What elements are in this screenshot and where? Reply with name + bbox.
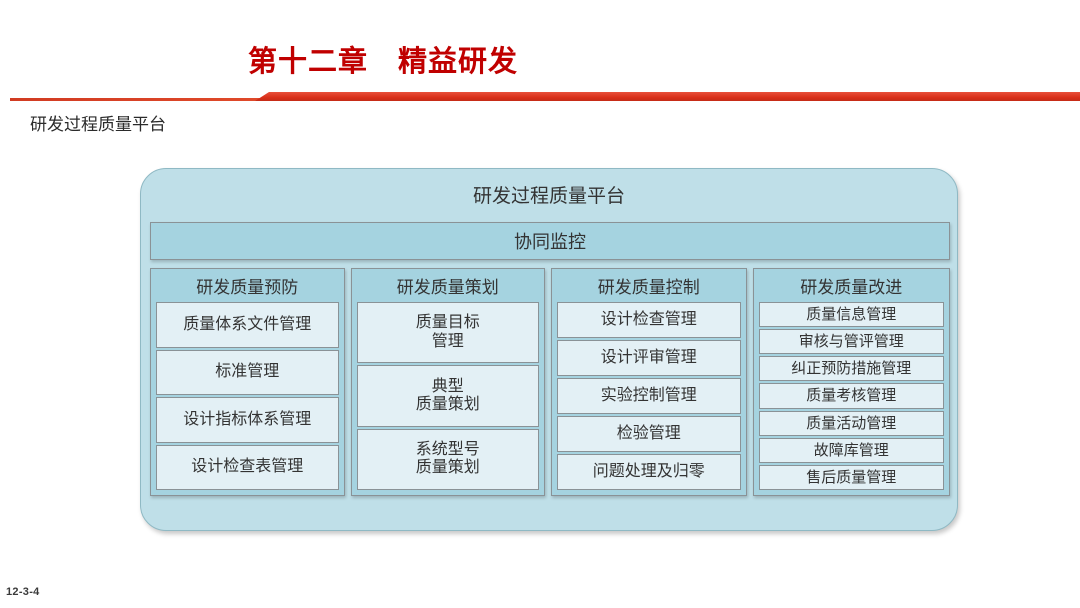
header-divider bbox=[0, 88, 1080, 110]
list-item[interactable]: 系统型号 质量策划 bbox=[357, 429, 540, 490]
list-item[interactable]: 标准管理 bbox=[156, 350, 339, 396]
list-item[interactable]: 设计检查表管理 bbox=[156, 445, 339, 491]
list-item[interactable]: 设计检查管理 bbox=[557, 302, 741, 338]
column-item-list: 设计检查管理 设计评审管理 实验控制管理 检验管理 问题处理及归零 bbox=[557, 302, 741, 490]
column-quality-improvement: 研发质量改进 质量信息管理 审核与管评管理 纠正预防措施管理 质量考核管理 质量… bbox=[753, 268, 950, 496]
list-item[interactable]: 问题处理及归零 bbox=[557, 454, 741, 490]
column-item-list: 质量目标 管理 典型 质量策划 系统型号 质量策划 bbox=[357, 302, 540, 490]
divider-thick-segment bbox=[255, 92, 1080, 101]
list-item[interactable]: 质量信息管理 bbox=[759, 302, 944, 327]
slide-page-number: 12-3-4 bbox=[6, 586, 40, 598]
capability-columns: 研发质量预防 质量体系文件管理 标准管理 设计指标体系管理 设计检查表管理 研发… bbox=[150, 268, 950, 496]
list-item[interactable]: 审核与管评管理 bbox=[759, 329, 944, 354]
column-item-list: 质量信息管理 审核与管评管理 纠正预防措施管理 质量考核管理 质量活动管理 故障… bbox=[759, 302, 944, 490]
list-item[interactable]: 实验控制管理 bbox=[557, 378, 741, 414]
column-header: 研发质量改进 bbox=[754, 269, 949, 302]
column-header: 研发质量预防 bbox=[151, 269, 344, 302]
column-header: 研发质量控制 bbox=[552, 269, 746, 302]
list-item[interactable]: 纠正预防措施管理 bbox=[759, 356, 944, 381]
list-item[interactable]: 设计评审管理 bbox=[557, 340, 741, 376]
list-item[interactable]: 故障库管理 bbox=[759, 438, 944, 463]
coordination-band-label: 协同监控 bbox=[514, 228, 586, 254]
list-item[interactable]: 质量活动管理 bbox=[759, 411, 944, 436]
list-item[interactable]: 质量考核管理 bbox=[759, 383, 944, 408]
list-item[interactable]: 设计指标体系管理 bbox=[156, 397, 339, 443]
platform-title: 研发过程质量平台 bbox=[141, 181, 957, 208]
column-quality-planning: 研发质量策划 质量目标 管理 典型 质量策划 系统型号 质量策划 bbox=[351, 268, 546, 496]
section-subtitle: 研发过程质量平台 bbox=[30, 110, 166, 135]
column-header: 研发质量策划 bbox=[352, 269, 545, 302]
list-item[interactable]: 质量目标 管理 bbox=[357, 302, 540, 363]
divider-thin-segment bbox=[10, 98, 268, 101]
column-quality-prevention: 研发质量预防 质量体系文件管理 标准管理 设计指标体系管理 设计检查表管理 bbox=[150, 268, 345, 496]
platform-diagram: 研发过程质量平台 协同监控 研发质量预防 质量体系文件管理 标准管理 设计指标体… bbox=[140, 168, 958, 531]
list-item[interactable]: 检验管理 bbox=[557, 416, 741, 452]
page-title: 第十二章 精益研发 bbox=[248, 38, 518, 80]
list-item[interactable]: 质量体系文件管理 bbox=[156, 302, 339, 348]
column-quality-control: 研发质量控制 设计检查管理 设计评审管理 实验控制管理 检验管理 问题处理及归零 bbox=[551, 268, 747, 496]
list-item[interactable]: 售后质量管理 bbox=[759, 465, 944, 490]
coordination-band: 协同监控 bbox=[150, 222, 950, 260]
column-item-list: 质量体系文件管理 标准管理 设计指标体系管理 设计检查表管理 bbox=[156, 302, 339, 490]
list-item[interactable]: 典型 质量策划 bbox=[357, 365, 540, 426]
